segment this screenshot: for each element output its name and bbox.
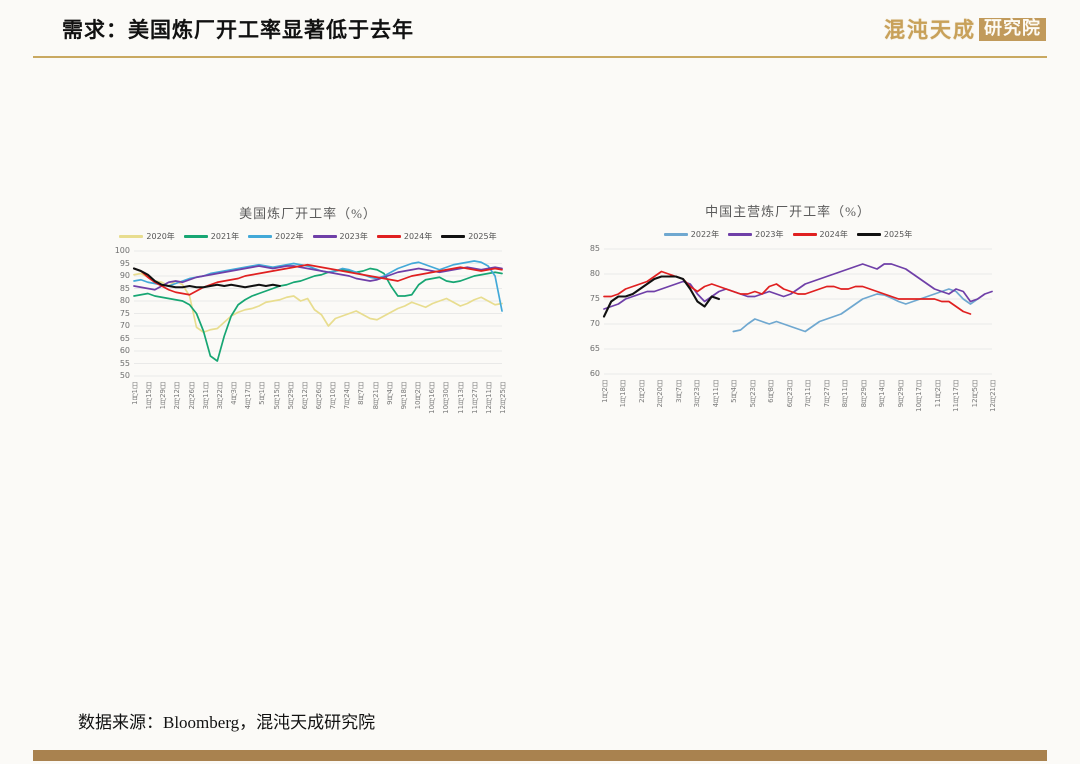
x-axis-tick: 11月27日 bbox=[470, 382, 480, 414]
page-title: 需求：美国炼厂开工率显著低于去年 bbox=[62, 14, 414, 44]
legend-swatch-icon bbox=[857, 233, 881, 236]
y-axis-tick: 75 bbox=[108, 309, 130, 318]
legend-swatch-icon bbox=[441, 235, 465, 238]
legend-label: 2022年 bbox=[691, 229, 719, 240]
x-axis-tick: 1月18日 bbox=[618, 380, 628, 407]
x-axis-tick: 2月12日 bbox=[172, 382, 182, 409]
plot-area: 1月1日1月15日1月29日2月12日2月26日3月11日3月22日4月3日4月… bbox=[108, 247, 508, 382]
legend-label: 2025年 bbox=[468, 231, 496, 242]
slide: 需求：美国炼厂开工率显著低于去年 混沌天成 研究院 美国炼厂开工率（%） 202… bbox=[0, 0, 1080, 764]
legend-swatch-icon bbox=[664, 233, 688, 236]
legend-swatch-icon bbox=[248, 235, 272, 238]
x-axis-tick: 2月20日 bbox=[655, 380, 665, 407]
x-axis-tick: 9月4日 bbox=[385, 382, 395, 405]
series-line-2023年 bbox=[604, 264, 992, 309]
legend-item-2020年[interactable]: 2020年 bbox=[119, 231, 174, 242]
x-axis-tick: 9月14日 bbox=[877, 380, 887, 407]
y-axis-tick: 85 bbox=[578, 244, 600, 253]
legend-item-2025年[interactable]: 2025年 bbox=[441, 231, 496, 242]
legend-item-2022年[interactable]: 2022年 bbox=[664, 229, 719, 240]
y-axis-tick: 100 bbox=[108, 246, 130, 255]
legend-item-2023年[interactable]: 2023年 bbox=[313, 231, 368, 242]
y-axis-tick: 55 bbox=[108, 359, 130, 368]
y-axis-tick: 70 bbox=[578, 319, 600, 328]
legend-item-2023年[interactable]: 2023年 bbox=[728, 229, 783, 240]
x-axis-tick: 3月22日 bbox=[215, 382, 225, 409]
x-axis-tick: 8月29日 bbox=[859, 380, 869, 407]
x-axis-tick: 8月11日 bbox=[840, 380, 850, 407]
x-axis-tick: 5月15日 bbox=[272, 382, 282, 409]
x-axis-tick: 5月1日 bbox=[257, 382, 267, 405]
legend-item-2024年[interactable]: 2024年 bbox=[377, 231, 432, 242]
x-axis-tick: 8月21日 bbox=[371, 382, 381, 409]
x-axis-tick: 6月8日 bbox=[766, 380, 776, 403]
x-axis-tick: 10月2日 bbox=[413, 382, 423, 409]
x-axis-tick: 11月2日 bbox=[933, 380, 943, 407]
legend-swatch-icon bbox=[313, 235, 337, 238]
x-axis-tick: 9月18日 bbox=[399, 382, 409, 409]
chart-us-refinery-utilization: 美国炼厂开工率（%） 2020年2021年2022年2023年2024年2025… bbox=[108, 200, 508, 445]
legend-label: 2022年 bbox=[275, 231, 303, 242]
legend-label: 2024年 bbox=[820, 229, 848, 240]
bottom-accent-bar bbox=[33, 750, 1047, 761]
x-axis-tick: 12月21日 bbox=[988, 380, 998, 412]
y-axis-tick: 75 bbox=[578, 294, 600, 303]
legend-item-2022年[interactable]: 2022年 bbox=[248, 231, 303, 242]
x-axis-tick: 1月2日 bbox=[600, 380, 610, 403]
x-axis-tick: 7月27日 bbox=[822, 380, 832, 407]
legend-label: 2025年 bbox=[884, 229, 912, 240]
y-axis-tick: 90 bbox=[108, 271, 130, 280]
y-axis-tick: 80 bbox=[108, 296, 130, 305]
x-axis-tick: 4月3日 bbox=[229, 382, 239, 405]
x-axis-tick: 7月10日 bbox=[328, 382, 338, 409]
y-axis-tick: 50 bbox=[108, 371, 130, 380]
legend-item-2021年[interactable]: 2021年 bbox=[184, 231, 239, 242]
x-axis-tick: 3月7日 bbox=[674, 380, 684, 403]
chart-title: 中国主营炼厂开工率（%） bbox=[578, 198, 998, 221]
legend-swatch-icon bbox=[728, 233, 752, 236]
x-axis-tick: 5月4日 bbox=[729, 380, 739, 403]
x-axis-tick: 4月11日 bbox=[711, 380, 721, 407]
data-source-note: 数据来源：Bloomberg，混沌天成研究院 bbox=[78, 708, 375, 733]
x-axis-tick: 6月23日 bbox=[785, 380, 795, 407]
x-axis-tick: 10月17日 bbox=[914, 380, 924, 412]
x-axis-tick: 2月2日 bbox=[637, 380, 647, 403]
y-axis-tick: 65 bbox=[578, 344, 600, 353]
legend-swatch-icon bbox=[793, 233, 817, 236]
plot-area: 1月2日1月18日2月2日2月20日3月7日3月23日4月11日5月4日5月23… bbox=[578, 245, 998, 380]
legend-swatch-icon bbox=[377, 235, 401, 238]
slide-header: 需求：美国炼厂开工率显著低于去年 混沌天成 研究院 bbox=[0, 0, 1080, 56]
legend-item-2024年[interactable]: 2024年 bbox=[793, 229, 848, 240]
legend-item-2025年[interactable]: 2025年 bbox=[857, 229, 912, 240]
series-line-2021年 bbox=[134, 269, 502, 362]
y-axis-tick: 70 bbox=[108, 321, 130, 330]
x-axis-tick: 6月26日 bbox=[314, 382, 324, 409]
legend-label: 2023年 bbox=[755, 229, 783, 240]
x-axis-tick: 2月26日 bbox=[187, 382, 197, 409]
legend-label: 2023年 bbox=[340, 231, 368, 242]
logo-seal-text: 混沌天成 bbox=[884, 14, 976, 44]
chart-legend: 2022年2023年2024年2025年 bbox=[578, 227, 998, 241]
x-axis-tick: 3月11日 bbox=[201, 382, 211, 409]
x-axis-tick: 5月29日 bbox=[286, 382, 296, 409]
legend-label: 2020年 bbox=[146, 231, 174, 242]
series-line-2025年 bbox=[604, 277, 719, 317]
x-axis-tick: 1月1日 bbox=[130, 382, 140, 405]
plot-svg bbox=[108, 247, 508, 382]
series-line-2020年 bbox=[134, 274, 502, 333]
x-axis-tick: 4月17日 bbox=[243, 382, 253, 409]
x-axis-tick: 8月7日 bbox=[356, 382, 366, 405]
x-axis-tick: 11月17日 bbox=[951, 380, 961, 412]
x-axis-tick: 9月29日 bbox=[896, 380, 906, 407]
y-axis-tick: 85 bbox=[108, 284, 130, 293]
x-axis-tick: 5月23日 bbox=[748, 380, 758, 407]
brand-logo: 混沌天成 研究院 bbox=[884, 12, 1046, 46]
chart-title: 美国炼厂开工率（%） bbox=[108, 200, 508, 223]
x-axis-tick: 6月12日 bbox=[300, 382, 310, 409]
legend-label: 2021年 bbox=[211, 231, 239, 242]
series-line-2022年 bbox=[733, 289, 977, 332]
legend-swatch-icon bbox=[119, 235, 143, 238]
x-axis-tick: 3月23日 bbox=[692, 380, 702, 407]
x-axis-tick: 1月15日 bbox=[144, 382, 154, 409]
x-axis-tick: 1月29日 bbox=[158, 382, 168, 409]
chart-legend: 2020年2021年2022年2023年2024年2025年 bbox=[108, 229, 508, 243]
x-axis-tick: 7月11日 bbox=[803, 380, 813, 407]
x-axis-tick: 11月13日 bbox=[456, 382, 466, 414]
y-axis-tick: 60 bbox=[578, 369, 600, 378]
x-axis-tick: 12月25日 bbox=[498, 382, 508, 414]
x-axis-tick: 7月24日 bbox=[342, 382, 352, 409]
logo-institute-badge: 研究院 bbox=[979, 18, 1046, 41]
plot-svg bbox=[578, 245, 998, 380]
x-axis-tick: 10月16日 bbox=[427, 382, 437, 414]
title-divider bbox=[33, 56, 1047, 58]
x-axis-tick: 10月30日 bbox=[441, 382, 451, 414]
y-axis-tick: 95 bbox=[108, 259, 130, 268]
y-axis-tick: 80 bbox=[578, 269, 600, 278]
y-axis-tick: 60 bbox=[108, 346, 130, 355]
legend-swatch-icon bbox=[184, 235, 208, 238]
x-axis-tick: 12月5日 bbox=[970, 380, 980, 407]
legend-label: 2024年 bbox=[404, 231, 432, 242]
chart-cn-refinery-utilization: 中国主营炼厂开工率（%） 2022年2023年2024年2025年 1月2日1月… bbox=[578, 198, 998, 445]
x-axis-tick: 12月11日 bbox=[484, 382, 494, 414]
y-axis-tick: 65 bbox=[108, 334, 130, 343]
